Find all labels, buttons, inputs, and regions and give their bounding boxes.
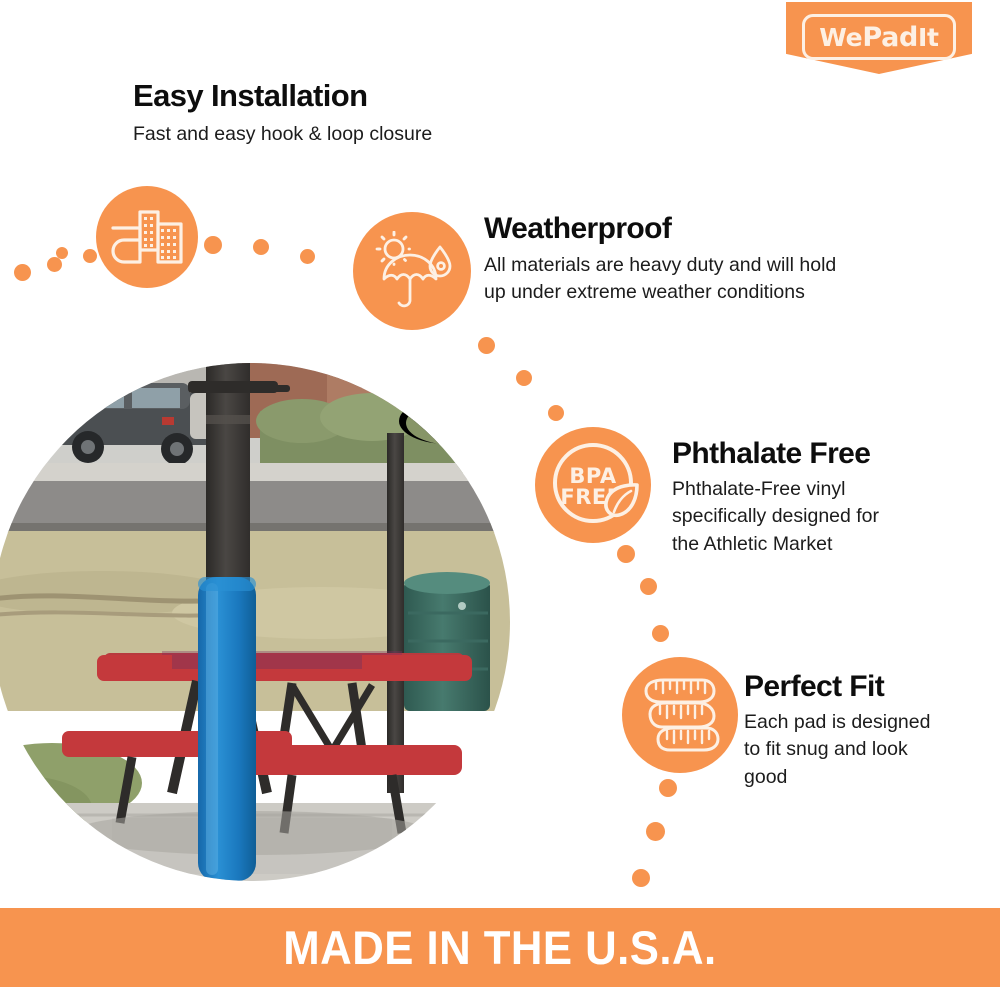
feature-description: Phthalate-Free vinyl specifically design… [672, 476, 879, 559]
feature-description-line: up under extreme weather conditions [484, 279, 836, 307]
trail-dot [300, 249, 315, 264]
sun-umbrella-raindrop-icon [353, 212, 471, 330]
product-photo-illustration [0, 363, 510, 881]
infographic-page: WePadIt Easy Installation Fast and easy … [0, 0, 1000, 987]
trail-dot [640, 578, 657, 595]
trail-dot [548, 405, 564, 421]
feature-easy-installation: Easy Installation Fast and easy hook & l… [133, 79, 432, 148]
feature-perfect-fit: Perfect Fit Each pad is designed to fit … [744, 670, 930, 792]
trail-dot [632, 869, 650, 887]
trail-dot [478, 337, 495, 354]
trail-dot [646, 822, 665, 841]
logo-wordmark: WePadIt [819, 24, 938, 51]
feature-description-line: Each pad is designed [744, 709, 930, 737]
feature-title: Perfect Fit [744, 670, 930, 704]
trail-dot [659, 779, 677, 797]
trail-dot [14, 264, 31, 281]
feature-phthalate-free: Phthalate Free Phthalate-Free vinyl spec… [672, 437, 879, 559]
logo-text-pad: Pad [862, 22, 918, 53]
trail-dot [617, 545, 635, 563]
measuring-tape-icon [622, 657, 738, 773]
logo-text-we: We [819, 23, 862, 52]
feature-title: Easy Installation [133, 79, 432, 114]
trail-dot [204, 236, 222, 254]
made-in-usa-text: MADE IN THE U.S.A. [283, 920, 716, 975]
trail-dot [83, 249, 97, 263]
trail-dot [652, 625, 669, 642]
made-in-usa-banner: MADE IN THE U.S.A. [0, 908, 1000, 987]
feature-description-line: to fit snug and look [744, 736, 930, 764]
trail-dot [47, 257, 62, 272]
feature-description: Each pad is designed to fit snug and loo… [744, 709, 930, 792]
feature-description-line: Phthalate-Free vinyl [672, 476, 879, 504]
feature-description: Fast and easy hook & loop closure [133, 121, 432, 149]
trail-dot [253, 239, 269, 255]
feature-description-line: the Athletic Market [672, 531, 879, 559]
brand-logo[interactable]: WePadIt [786, 2, 972, 74]
feature-description-line: Fast and easy hook & loop closure [133, 121, 432, 149]
product-photo [0, 363, 510, 881]
logo-outline-plate: WePadIt [802, 14, 956, 60]
trail-dot [56, 247, 68, 259]
feature-title: Phthalate Free [672, 437, 879, 471]
trail-dot [516, 370, 532, 386]
feature-title: Weatherproof [484, 212, 836, 246]
logo-text-it: It [918, 23, 939, 52]
hook-and-loop-strap-icon [96, 186, 198, 288]
feature-description-line: specifically designed for [672, 503, 879, 531]
feature-description: All materials are heavy duty and will ho… [484, 252, 836, 307]
feature-weatherproof: Weatherproof All materials are heavy dut… [484, 212, 836, 307]
feature-description-line: All materials are heavy duty and will ho… [484, 252, 836, 280]
bpa-free-leaf-icon: BPA FREE [535, 427, 651, 543]
feature-description-line: good [744, 764, 930, 792]
